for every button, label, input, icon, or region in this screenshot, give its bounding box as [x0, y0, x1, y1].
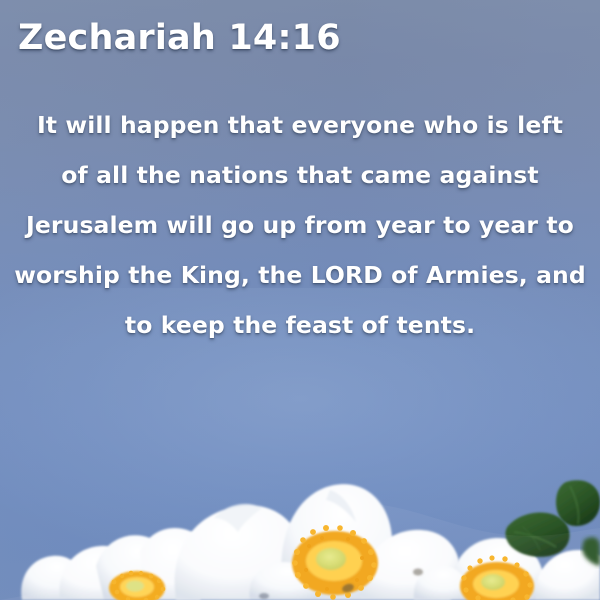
bud-specks	[259, 569, 423, 600]
verse-text-block: It will happen that everyone who is left…	[0, 100, 600, 350]
verse-line-1: It will happen that everyone who is left	[0, 100, 600, 150]
flower-left-petals	[21, 528, 212, 600]
verse-line-5: to keep the feast of tents.	[0, 300, 600, 350]
leaf-far-right-edge	[582, 537, 600, 566]
flower-right-petals	[414, 538, 600, 600]
petal-highlight-wash	[0, 504, 600, 600]
verse-line-3: Jerusalem will go up from year to year t…	[0, 200, 600, 250]
leaf-right-lower	[505, 512, 569, 556]
page-title: Zechariah 14:16	[18, 18, 341, 58]
verse-line-2: of all the nations that came against	[0, 150, 600, 200]
flower-center-petals	[175, 484, 461, 600]
flower-artwork	[0, 390, 600, 600]
flower-center-stamens	[292, 525, 378, 600]
flower-left-center	[109, 571, 165, 600]
flower-right-center	[460, 555, 534, 600]
verse-image-card: Zechariah 14:16 It will happen that ever…	[0, 0, 600, 600]
leaf-right-upper	[556, 480, 600, 526]
verse-line-4: worship the King, the LORD of Armies, an…	[0, 250, 600, 300]
